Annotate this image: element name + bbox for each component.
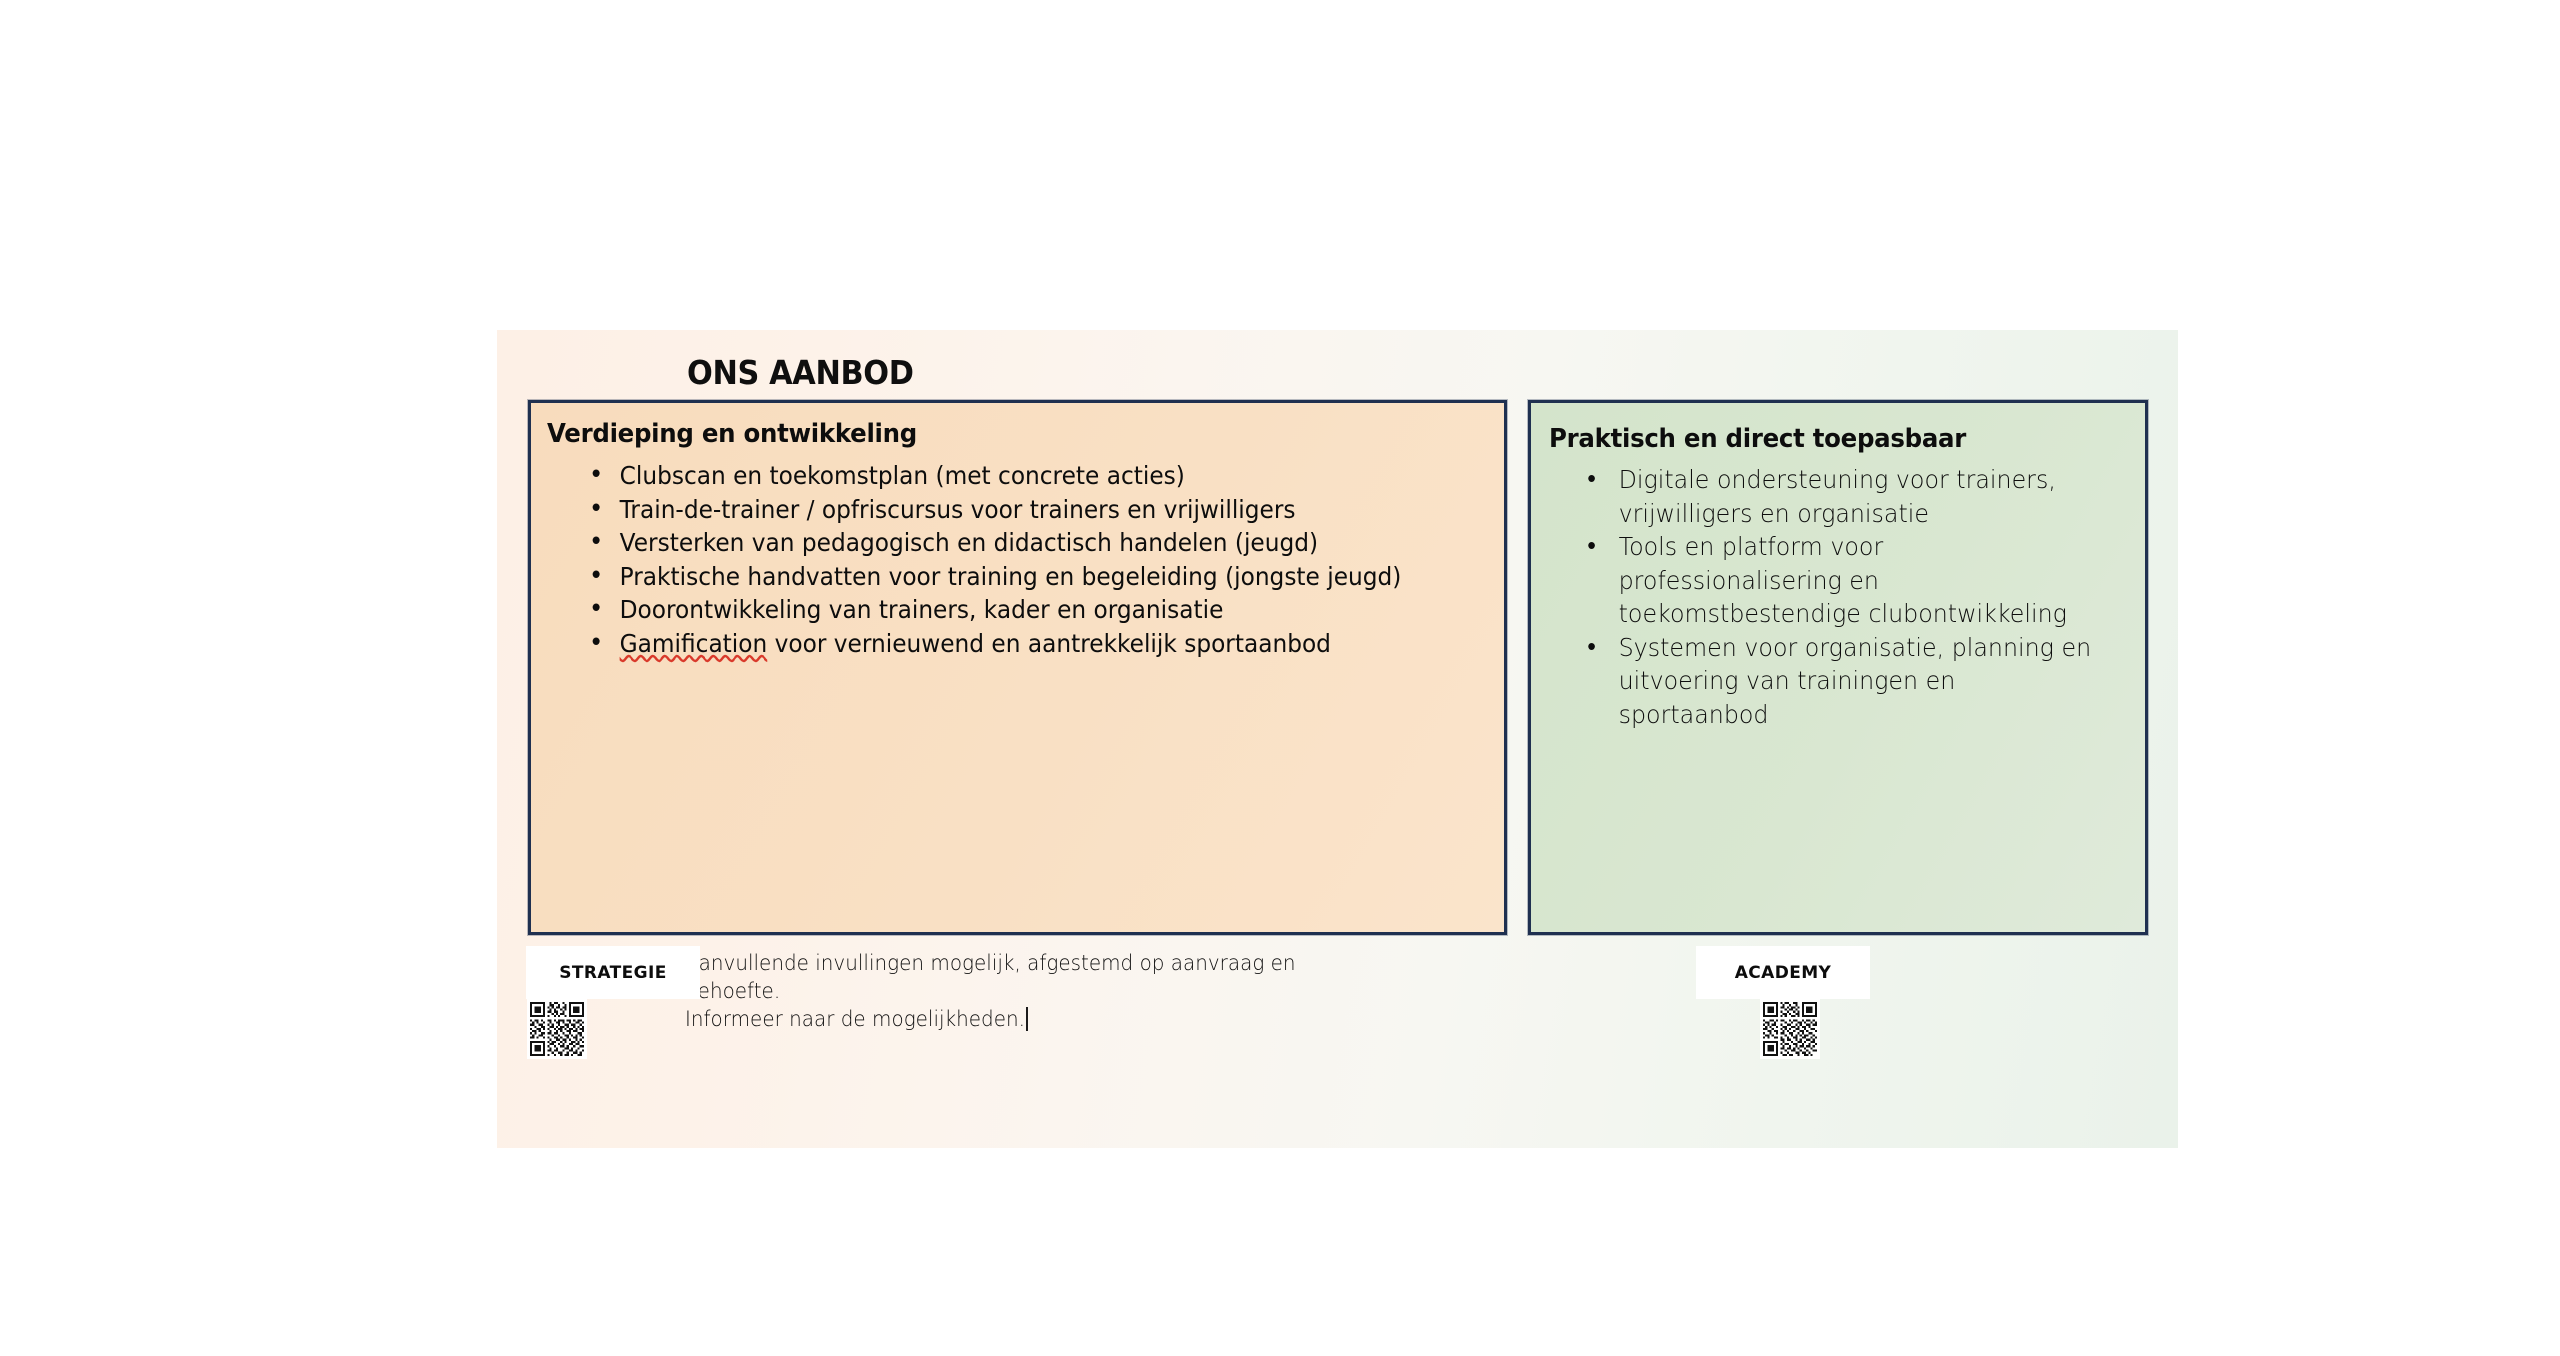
right-panel-bullet-list: Digitale ondersteuning voor trainers, vr… (1573, 463, 2133, 731)
text-cursor (1026, 1007, 1028, 1031)
qr-code-strategie-icon[interactable] (527, 999, 587, 1059)
badge-strategie: STRATEGIE (526, 946, 700, 999)
right-panel-heading: Praktisch en direct toepasbaar (1549, 424, 1966, 454)
badge-strategie-label: STRATEGIE (559, 963, 666, 983)
left-panel-heading: Verdieping en ontwikkeling (547, 419, 917, 449)
qr-code-academy-icon[interactable] (1760, 999, 1820, 1059)
spellcheck-word: Gamification (620, 629, 768, 658)
list-item: Doorontwikkeling van trainers, kader en … (575, 593, 1412, 627)
list-item: Digitale ondersteuning voor trainers, vr… (1573, 463, 2105, 530)
list-item: Praktische handvatten voor training en b… (575, 560, 1412, 594)
right-content-panel: Praktisch en direct toepasbaar Digitale … (1528, 400, 2148, 935)
footer-note-line-1: Aanvullende invullingen mogelijk, afgest… (685, 951, 1296, 1003)
left-panel-bullet-list: Clubscan en toekomstplan (met concrete a… (575, 459, 1475, 660)
left-content-panel: Verdieping en ontwikkeling Clubscan en t… (528, 400, 1507, 935)
badge-academy: ACADEMY (1696, 946, 1870, 999)
footer-note-line-2: Informeer naar de mogelijkheden. (685, 1007, 1025, 1031)
list-item: Train-de-trainer / opfriscursus voor tra… (575, 493, 1412, 527)
page-title: ONS AANBOD (687, 353, 914, 392)
footer-note[interactable]: Aanvullende invullingen mogelijk, afgest… (685, 949, 1312, 1033)
list-item: Clubscan en toekomstplan (met concrete a… (575, 459, 1412, 493)
list-item: Systemen voor organisatie, planning en u… (1573, 631, 2105, 732)
slide-canvas: ONS AANBOD Verdieping en ontwikkeling Cl… (497, 330, 2178, 1148)
list-item-misspelled: Gamification voor vernieuwend en aantrek… (575, 627, 1412, 661)
list-item: Tools en platform voor professionaliseri… (1573, 530, 2105, 631)
list-item-label: voor vernieuwend en aantrekkelijk sporta… (767, 629, 1331, 658)
badge-academy-label: ACADEMY (1735, 963, 1832, 983)
list-item: Versterken van pedagogisch en didactisch… (575, 526, 1412, 560)
